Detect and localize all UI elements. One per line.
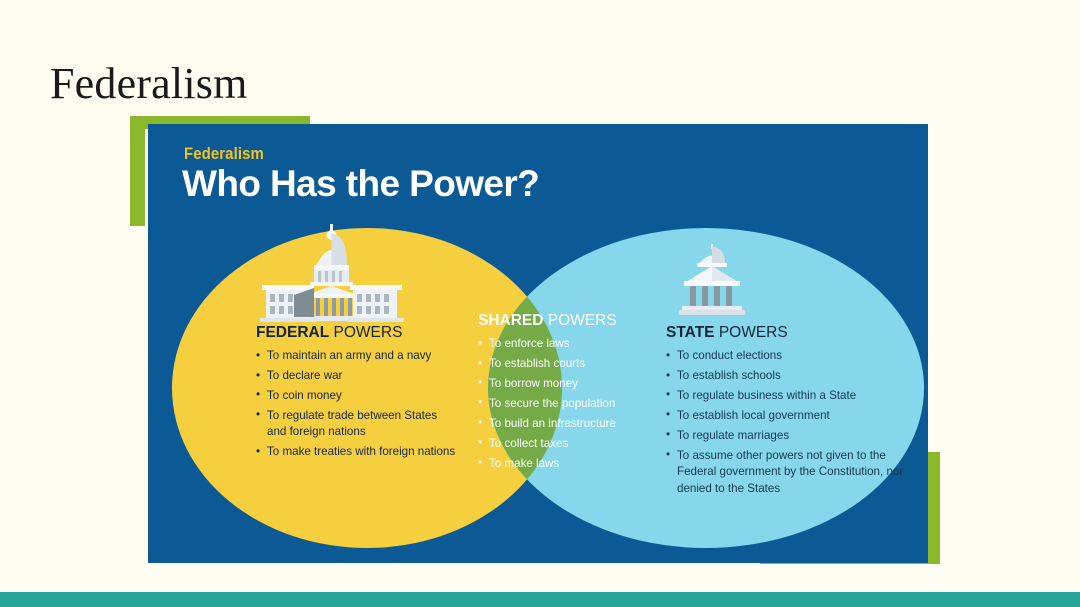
list-item: To establish schools: [666, 368, 906, 384]
list-item: To establish courts: [478, 356, 650, 372]
state-heading-light: POWERS: [715, 324, 788, 341]
state-heading-strong: STATE: [666, 324, 715, 341]
list-item: To enforce laws: [478, 336, 650, 352]
federalism-infographic: Federalism Who Has the Power?: [130, 112, 940, 577]
list-item: To build an infrastructure: [478, 416, 650, 432]
us-capitol-building-icon: [256, 222, 424, 327]
infographic-eyebrow: Federalism: [184, 144, 264, 164]
list-item: To regulate business within a State: [666, 388, 906, 404]
shared-heading-strong: SHARED: [478, 312, 543, 329]
state-capitol-building-icon: [673, 244, 751, 321]
federal-powers-heading: FEDERAL POWERS: [256, 324, 456, 341]
state-powers-heading: STATE POWERS: [666, 324, 906, 341]
list-item: To collect taxes: [478, 436, 650, 452]
list-item: To conduct elections: [666, 348, 906, 364]
federal-powers-column: FEDERAL POWERS To maintain an army and a…: [256, 324, 456, 464]
list-item: To make laws: [478, 456, 650, 472]
list-item: To establish local government: [666, 408, 906, 424]
federal-heading-light: POWERS: [329, 324, 402, 341]
federal-powers-list: To maintain an army and a navy To declar…: [256, 348, 456, 461]
list-item: To maintain an army and a navy: [256, 348, 456, 364]
shared-powers-heading: SHARED POWERS: [478, 312, 650, 329]
federal-heading-strong: FEDERAL: [256, 324, 329, 341]
shared-powers-column: SHARED POWERS To enforce laws To establi…: [478, 312, 650, 476]
state-powers-list: To conduct elections To establish school…: [666, 348, 906, 497]
list-item: To regulate marriages: [666, 428, 906, 444]
list-item: To assume other powers not given to the …: [666, 448, 906, 497]
list-item: To secure the population: [478, 396, 650, 412]
list-item: To declare war: [256, 368, 456, 384]
state-powers-column: STATE POWERS To conduct elections To est…: [666, 324, 906, 501]
corner-bracket-top-left-vertical: [130, 116, 145, 226]
shared-heading-light: POWERS: [543, 312, 616, 329]
list-item: To make treaties with foreign nations: [256, 444, 456, 460]
infographic-panel: Federalism Who Has the Power?: [148, 124, 928, 563]
shared-powers-list: To enforce laws To establish courts To b…: [478, 336, 650, 472]
slide-accent-bar: [0, 592, 1080, 607]
list-item: To borrow money: [478, 376, 650, 392]
infographic-headline: Who Has the Power?: [182, 163, 539, 205]
page-title: Federalism: [50, 58, 248, 109]
list-item: To coin money: [256, 388, 456, 404]
list-item: To regulate trade between States and for…: [256, 408, 456, 441]
